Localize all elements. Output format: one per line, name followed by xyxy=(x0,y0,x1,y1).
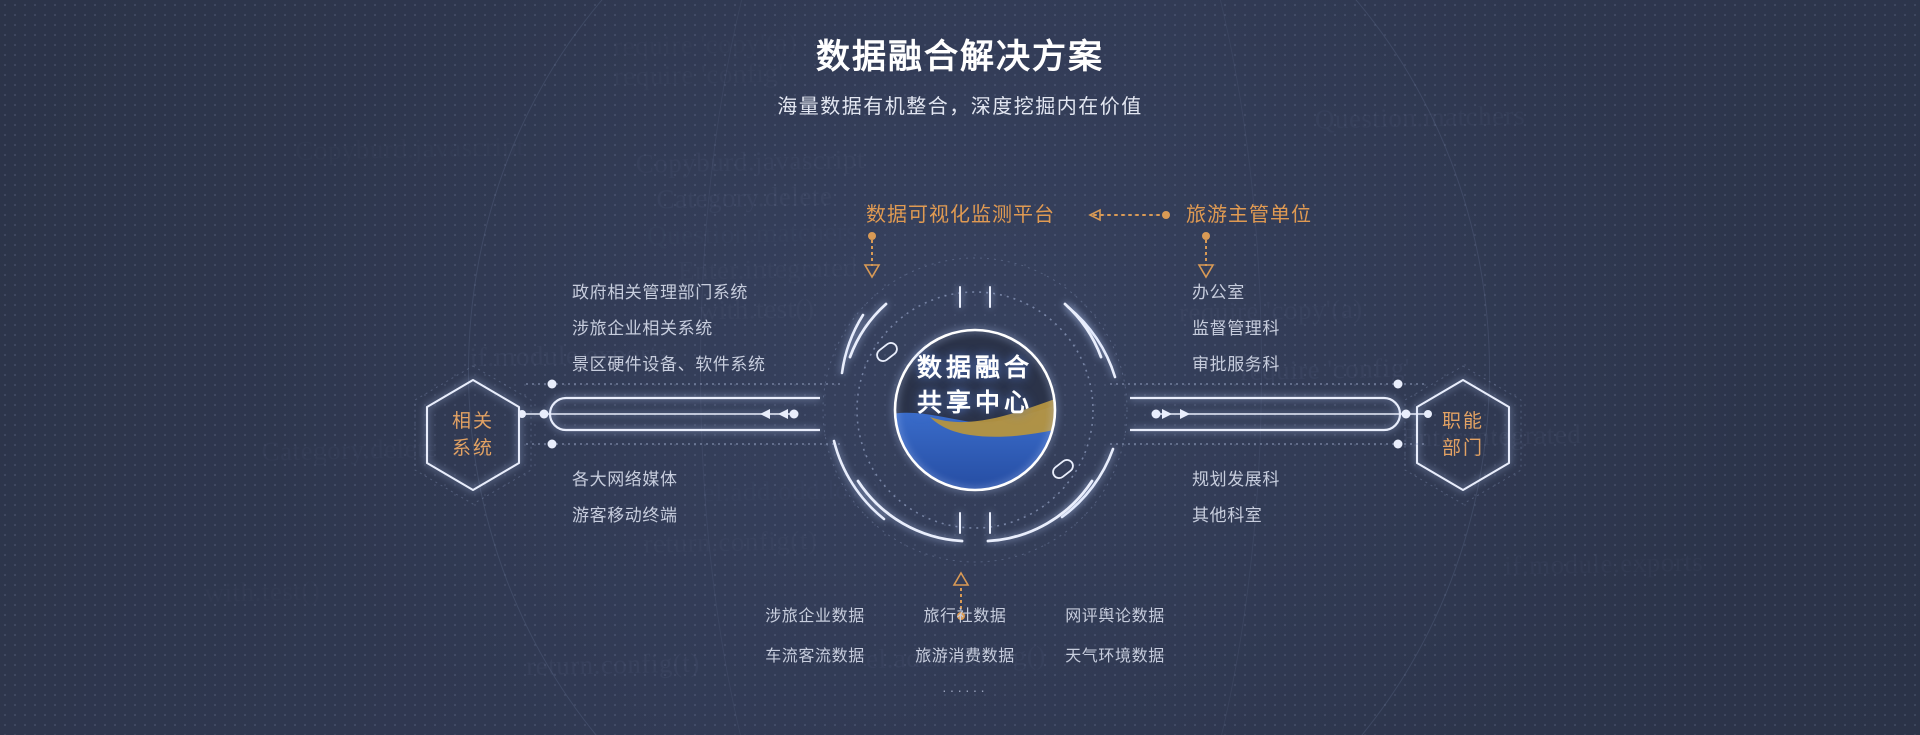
table-row: 车流客流数据 旅游消费数据 天气环境数据 xyxy=(740,642,1190,666)
grid-cell: 天气环境数据 xyxy=(1040,642,1190,666)
page-title: 数据融合解决方案 xyxy=(0,34,1920,80)
list-item: 监督管理科 xyxy=(1192,311,1280,347)
hexagon-label-line1: 职能 xyxy=(1442,408,1484,435)
infographic-canvas: require 'copy'(a)require 'config'Copybur… xyxy=(0,0,1920,735)
bottom-data-grid: 涉旅企业数据 旅行社数据 网评舆论数据 车流客流数据 旅游消费数据 天气环境数据… xyxy=(740,602,1190,698)
page-header: 数据融合解决方案 海量数据有机整合，深度挖掘内在价值 xyxy=(0,34,1920,122)
grid-cell: 网评舆论数据 xyxy=(1040,602,1190,626)
center-hub[interactable]: 数据融合 共享中心 xyxy=(810,245,1140,575)
center-label-line1: 数据融合 xyxy=(810,351,1140,386)
page-subtitle: 海量数据有机整合，深度挖掘内在价值 xyxy=(0,92,1920,122)
left-top-source-list: 政府相关管理部门系统 涉旅企业相关系统 景区硬件设备、软件系统 xyxy=(572,275,766,383)
connector-authority-down xyxy=(1200,232,1212,278)
list-item: 涉旅企业相关系统 xyxy=(572,311,766,347)
arrow-authority-to-platform xyxy=(1076,209,1172,219)
table-row: 涉旅企业数据 旅行社数据 网评舆论数据 xyxy=(740,602,1190,626)
label-tourism-authority: 旅游主管单位 xyxy=(1186,198,1312,227)
right-top-department-list: 办公室 监督管理科 审批服务科 xyxy=(1192,275,1280,383)
list-item: 其他科室 xyxy=(1192,498,1280,534)
list-item: 办公室 xyxy=(1192,275,1280,311)
grid-cell: 车流客流数据 xyxy=(740,642,890,666)
hexagon-label-line2: 部门 xyxy=(1442,435,1484,462)
center-label-line2: 共享中心 xyxy=(810,386,1140,421)
hexagon-label-line1: 相关 xyxy=(452,408,494,435)
hexagon-label-line2: 系统 xyxy=(452,435,494,462)
grid-ellipsis: ······ xyxy=(740,682,1190,698)
grid-cell: 涉旅企业数据 xyxy=(740,602,890,626)
label-visualization-platform: 数据可视化监测平台 xyxy=(866,198,1055,227)
list-item: 政府相关管理部门系统 xyxy=(572,275,766,311)
list-item: 游客移动终端 xyxy=(572,498,678,534)
grid-cell: 旅行社数据 xyxy=(890,602,1040,626)
center-hub-label: 数据融合 共享中心 xyxy=(810,351,1140,421)
grid-cell: 旅游消费数据 xyxy=(890,642,1040,666)
